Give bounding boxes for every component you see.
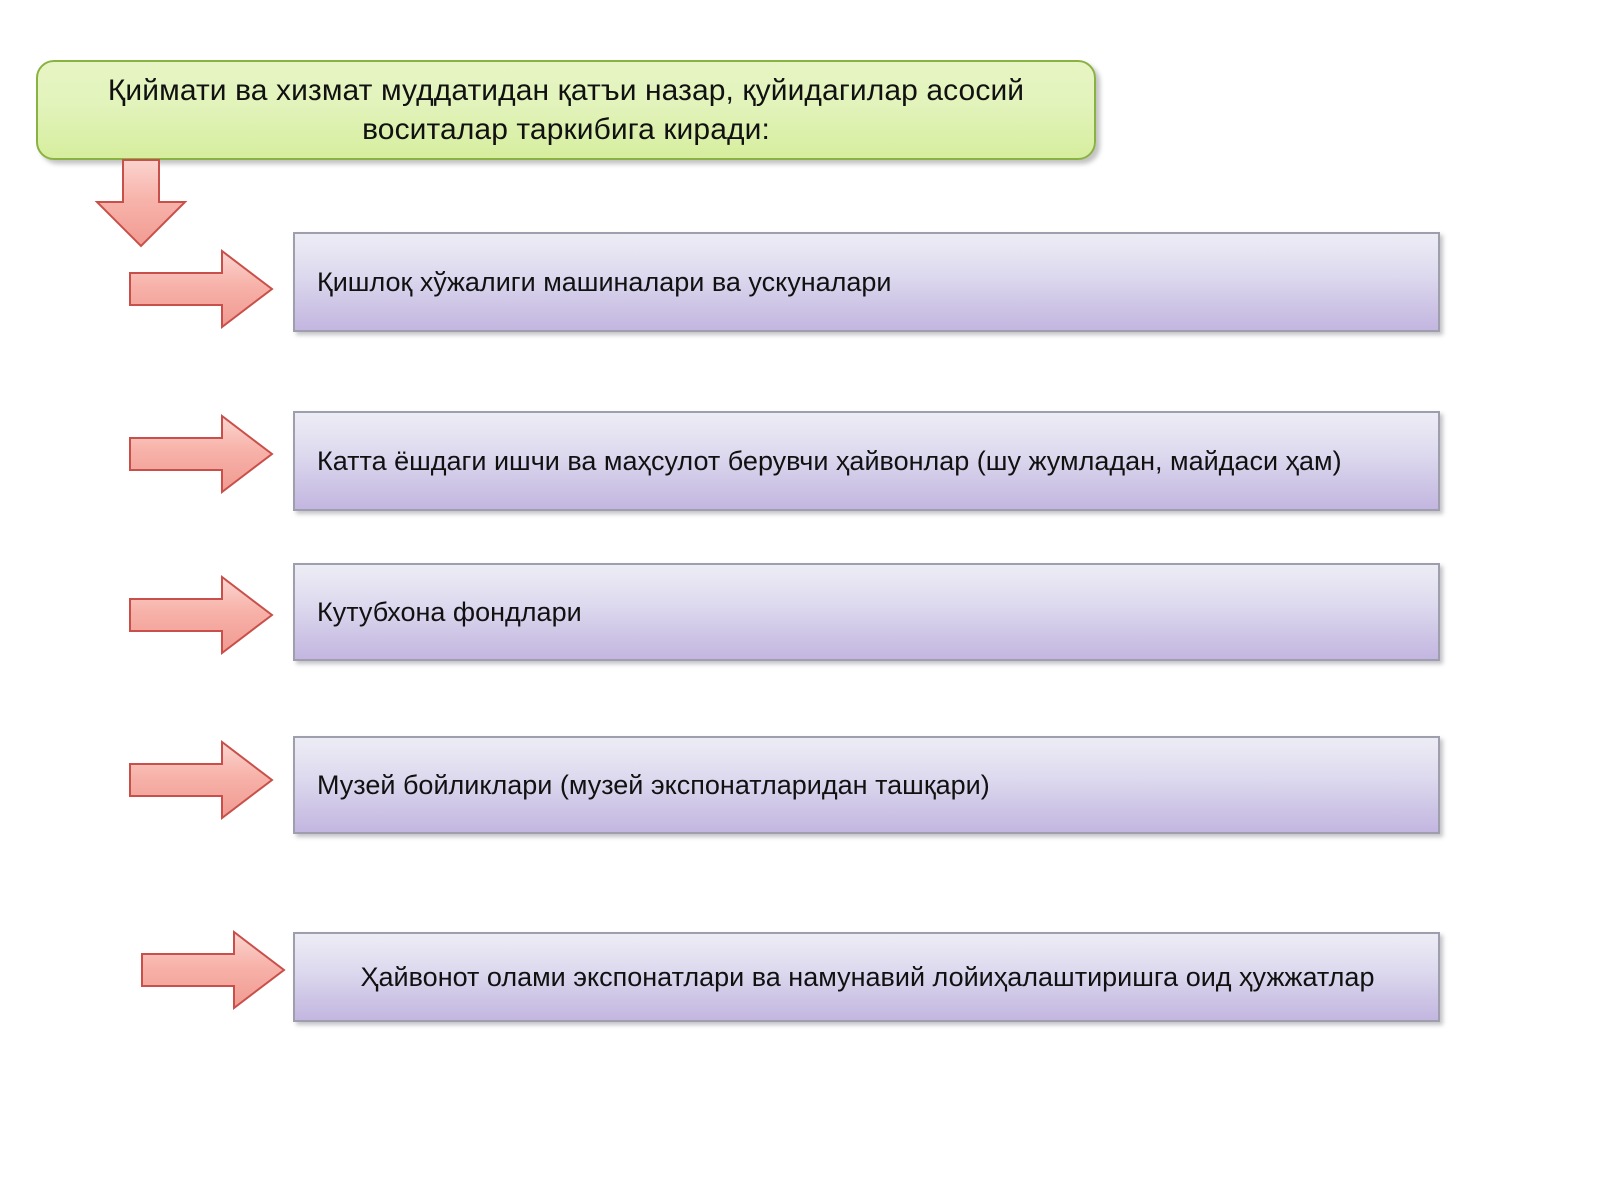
list-item-label: Қишлоқ хўжалиги машиналари ва ускуналари xyxy=(317,263,1418,301)
arrow-right-icon xyxy=(140,930,286,1010)
arrow-right-icon xyxy=(128,414,274,494)
list-item-label: Катта ёшдаги ишчи ва маҳсулот берувчи ҳа… xyxy=(317,442,1418,480)
arrow-right-icon xyxy=(128,740,274,820)
list-item: Қишлоқ хўжалиги машиналари ва ускуналари xyxy=(293,232,1440,332)
header-callout-text: Қиймати ва хизмат муддатидан қатъи назар… xyxy=(64,71,1068,149)
arrow-right-icon xyxy=(128,249,274,329)
list-item: Музей бойликлари (музей экспонатларидан … xyxy=(293,736,1440,834)
list-item-label: Ҳайвонот олами экспонатлари ва намунавий… xyxy=(317,958,1418,996)
header-callout-box: Қиймати ва хизмат муддатидан қатъи назар… xyxy=(36,60,1096,160)
list-item: Кутубхона фондлари xyxy=(293,563,1440,661)
list-item-label: Музей бойликлари (музей экспонатларидан … xyxy=(317,766,1418,804)
arrow-right-icon xyxy=(128,575,274,655)
list-item: Катта ёшдаги ишчи ва маҳсулот берувчи ҳа… xyxy=(293,411,1440,511)
slide-canvas: Қиймати ва хизмат муддатидан қатъи назар… xyxy=(0,0,1600,1200)
list-item-label: Кутубхона фондлари xyxy=(317,593,1418,631)
list-item: Ҳайвонот олами экспонатлари ва намунавий… xyxy=(293,932,1440,1022)
arrow-down-icon xyxy=(93,158,189,250)
